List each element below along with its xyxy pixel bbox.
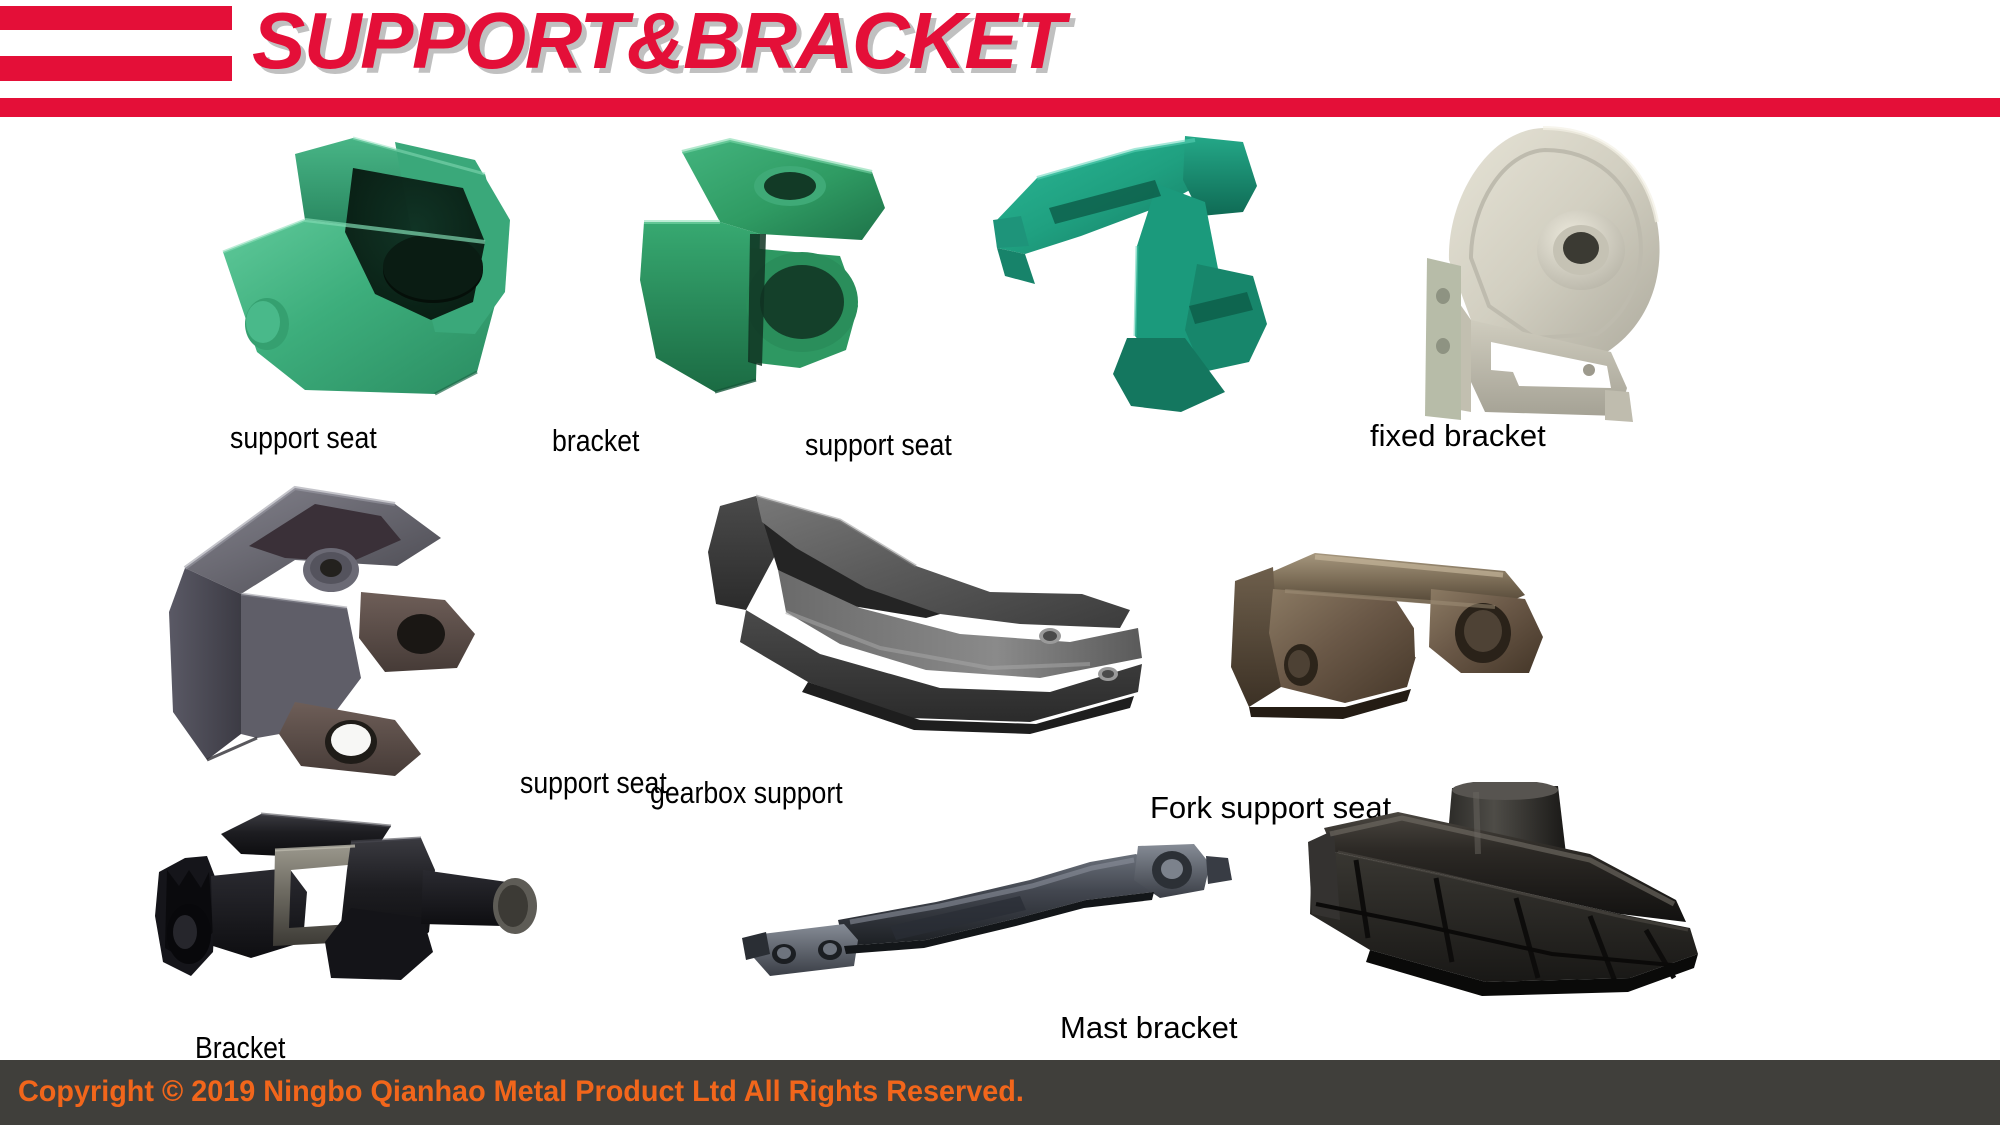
product-item-10[interactable]: Mast bracket [1290,782,1710,1012]
product-photo-fixed-bracket [1375,120,1695,430]
product-label-10: Mast bracket [1060,1012,1237,1043]
product-item-6[interactable]: gearbox support [690,492,1160,752]
product-item-9[interactable]: link [740,842,1240,1007]
product-label-1: support seat [230,422,377,453]
product-label-8: Bracket [195,1032,285,1063]
header-decor-bars [0,6,232,88]
product-label-4: fixed bracket [1370,420,1546,451]
product-gallery: support seat [0,122,2000,1060]
product-item-3[interactable]: support seat [985,124,1285,424]
product-item-2[interactable]: bracket [610,130,900,420]
page-footer: Copyright © 2019 Ningbo Qianhao Metal Pr… [0,1060,2000,1125]
product-photo-mast-bracket [1290,782,1710,1012]
header-decor-bar-1 [0,6,232,30]
copyright-text: Copyright © 2019 Ningbo Qianhao Metal Pr… [18,1075,1024,1109]
product-item-5[interactable]: support seat [145,482,495,782]
product-item-4[interactable]: fixed bracket [1375,120,1695,430]
product-label-3: support seat [805,429,952,460]
product-label-2: bracket [552,425,639,456]
product-item-8[interactable]: Bracket [155,812,555,1007]
product-item-1[interactable]: support seat [185,122,525,422]
page-header: SUPPORT&BRACKET [0,0,2000,122]
product-photo-support-seat-cast [145,482,495,782]
header-decor-bar-2 [0,56,232,81]
product-label-6: gearbox support [650,777,843,808]
product-photo-bracket-black [155,812,555,1007]
product-photo-fork-support-seat [1225,537,1545,757]
product-photo-support-seat-green [185,122,525,422]
product-label-5: support seat [520,767,667,798]
product-photo-support-seat-teal [985,124,1285,424]
product-photo-link [740,842,1240,1007]
header-rule [0,98,2000,117]
product-photo-gearbox-support [690,492,1160,752]
product-item-7[interactable]: Fork support seat [1225,537,1545,757]
page-title: SUPPORT&BRACKET [252,0,1064,84]
product-photo-bracket-green [610,130,900,420]
